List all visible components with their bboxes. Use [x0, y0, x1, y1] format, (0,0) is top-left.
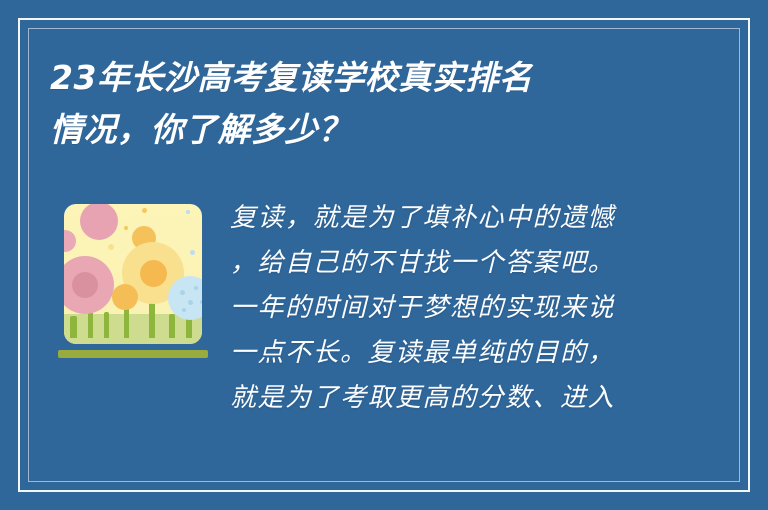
- grass-blade-1: [70, 316, 77, 338]
- flower-pink-top: [80, 204, 118, 240]
- flower-orange-small: [112, 284, 138, 310]
- body-line-4: 一点不长。复读最单纯的目的，: [230, 331, 658, 376]
- illustration-card: [64, 204, 202, 344]
- content-row: 复读，就是为了填补心中的遗憾 ，给自己的不甘找一个答案吧。 一年的时间对于梦想的…: [0, 196, 768, 496]
- flower-blue-speck-4: [200, 300, 202, 304]
- dot-speck-2: [186, 210, 190, 214]
- flower-pink-top-edge: [64, 230, 76, 252]
- flower-blue-speck-2: [194, 286, 198, 290]
- dot-speck-6: [124, 226, 128, 230]
- grass-blade-2: [104, 312, 109, 338]
- illustration-flower-garden: [58, 198, 208, 358]
- title-line-1: 23年长沙高考复读学校真实排名: [50, 52, 690, 104]
- flower-pink-large-center: [72, 272, 98, 298]
- poster-canvas: 23年长沙高考复读学校真实排名 情况，你了解多少？: [0, 0, 768, 510]
- flower-blue-speck-5: [182, 308, 186, 312]
- grass-blade-3: [169, 314, 175, 338]
- dot-speck-5: [108, 244, 114, 250]
- body-line-2: ，给自己的不甘找一个答案吧。: [230, 241, 658, 286]
- body-paragraph: 复读，就是为了填补心中的遗憾 ，给自己的不甘找一个答案吧。 一年的时间对于梦想的…: [230, 196, 658, 458]
- page-title: 23年长沙高考复读学校真实排名 情况，你了解多少？: [50, 52, 690, 156]
- body-line-1: 复读，就是为了填补心中的遗憾: [230, 196, 658, 241]
- body-line-3: 一年的时间对于梦想的实现来说: [230, 286, 658, 331]
- flower-blue-speck-1: [180, 290, 185, 295]
- dot-speck-3: [190, 250, 195, 255]
- illustration-ground-strip: [58, 350, 208, 358]
- flower-yellow-large-center: [140, 260, 167, 287]
- body-line-5: 就是为了考取更高的分数、进入: [230, 376, 658, 421]
- dot-speck-1: [142, 208, 147, 213]
- title-line-2: 情况，你了解多少？: [50, 104, 690, 156]
- flower-blue-speck-3: [188, 300, 193, 305]
